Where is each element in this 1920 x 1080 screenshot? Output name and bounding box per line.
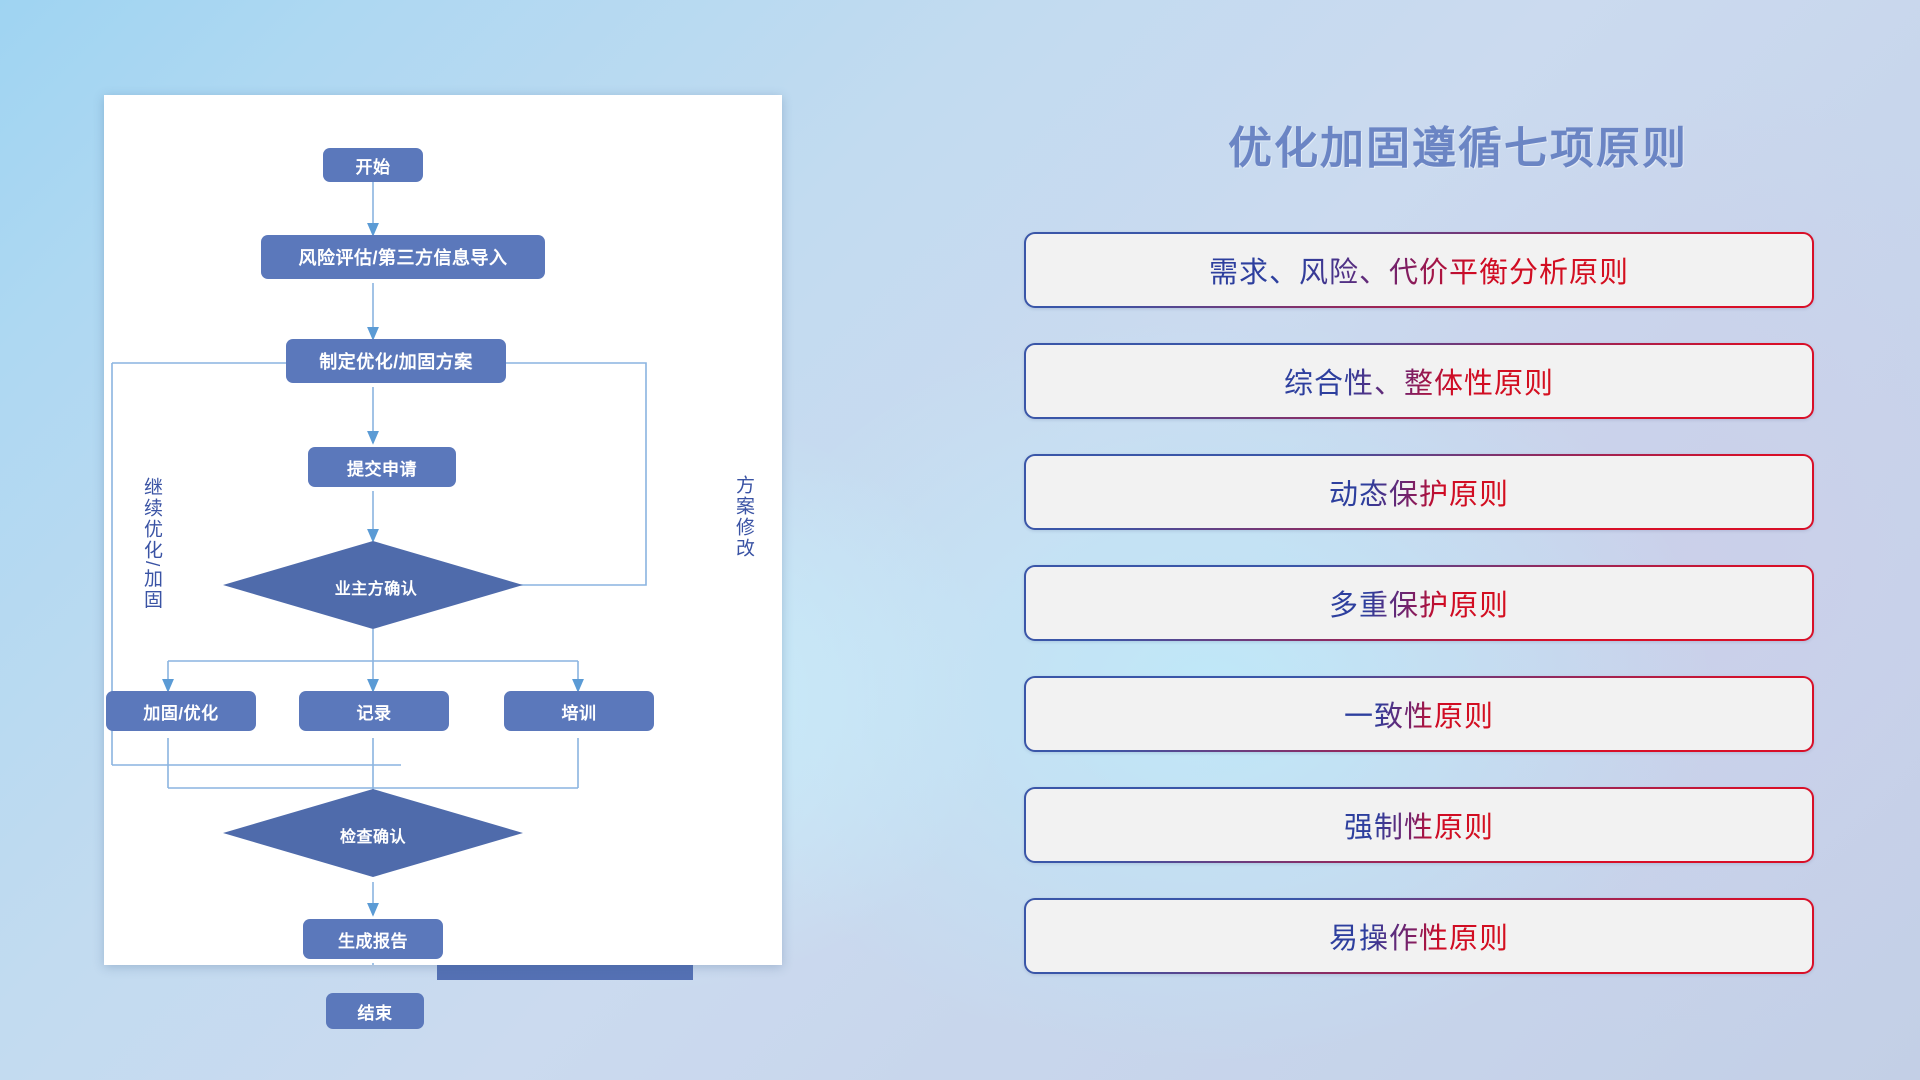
principle-label: 多重保护原则 [1329,582,1509,624]
flow-node-check-confirm[interactable]: 检查确认 [308,823,438,847]
flow-node-train[interactable]: 培训 [504,691,654,731]
principle-label: 易操作性原则 [1329,915,1509,957]
flow-node-plan[interactable]: 制定优化/加固方案 [286,339,506,383]
principle-label: 一致性原则 [1344,693,1494,735]
principle-label: 需求、风险、代价平衡分析原则 [1209,249,1629,291]
principle-item[interactable]: 易操作性原则 [1024,898,1814,974]
flow-node-start[interactable]: 开始 [323,148,423,182]
flow-edge-label-right: 方案修改 [734,475,753,559]
principle-item[interactable]: 多重保护原则 [1024,565,1814,641]
principle-item[interactable]: 一致性原则 [1024,676,1814,752]
principle-item[interactable]: 需求、风险、代价平衡分析原则 [1024,232,1814,308]
flow-node-risk[interactable]: 风险评估/第三方信息导入 [261,235,545,279]
flow-node-report[interactable]: 生成报告 [303,919,443,959]
principle-label: 综合性、整体性原则 [1284,360,1554,402]
principle-item[interactable]: 强制性原则 [1024,787,1814,863]
principle-label: 动态保护原则 [1329,471,1509,513]
principles-list: 需求、风险、代价平衡分析原则 综合性、整体性原则 动态保护原则 多重保护原则 一… [1024,232,1814,1009]
flowchart-card: 开始 风险评估/第三方信息导入 制定优化/加固方案 提交申请 业主方确认 加固/… [104,95,782,965]
principle-label: 强制性原则 [1344,804,1494,846]
principle-item[interactable]: 动态保护原则 [1024,454,1814,530]
flow-node-owner-confirm[interactable]: 业主方确认 [306,575,446,599]
right-panel-title: 优化加固遵循七项原则 [1008,112,1908,176]
flow-node-end[interactable]: 结束 [326,993,424,1029]
flowchart-connectors [104,95,782,965]
principle-item[interactable]: 综合性、整体性原则 [1024,343,1814,419]
flow-edge-label-left: 继续优化/加固 [142,477,161,610]
flow-node-submit[interactable]: 提交申请 [308,447,456,487]
flow-node-reinforce[interactable]: 加固/优化 [106,691,256,731]
flow-node-record[interactable]: 记录 [299,691,449,731]
